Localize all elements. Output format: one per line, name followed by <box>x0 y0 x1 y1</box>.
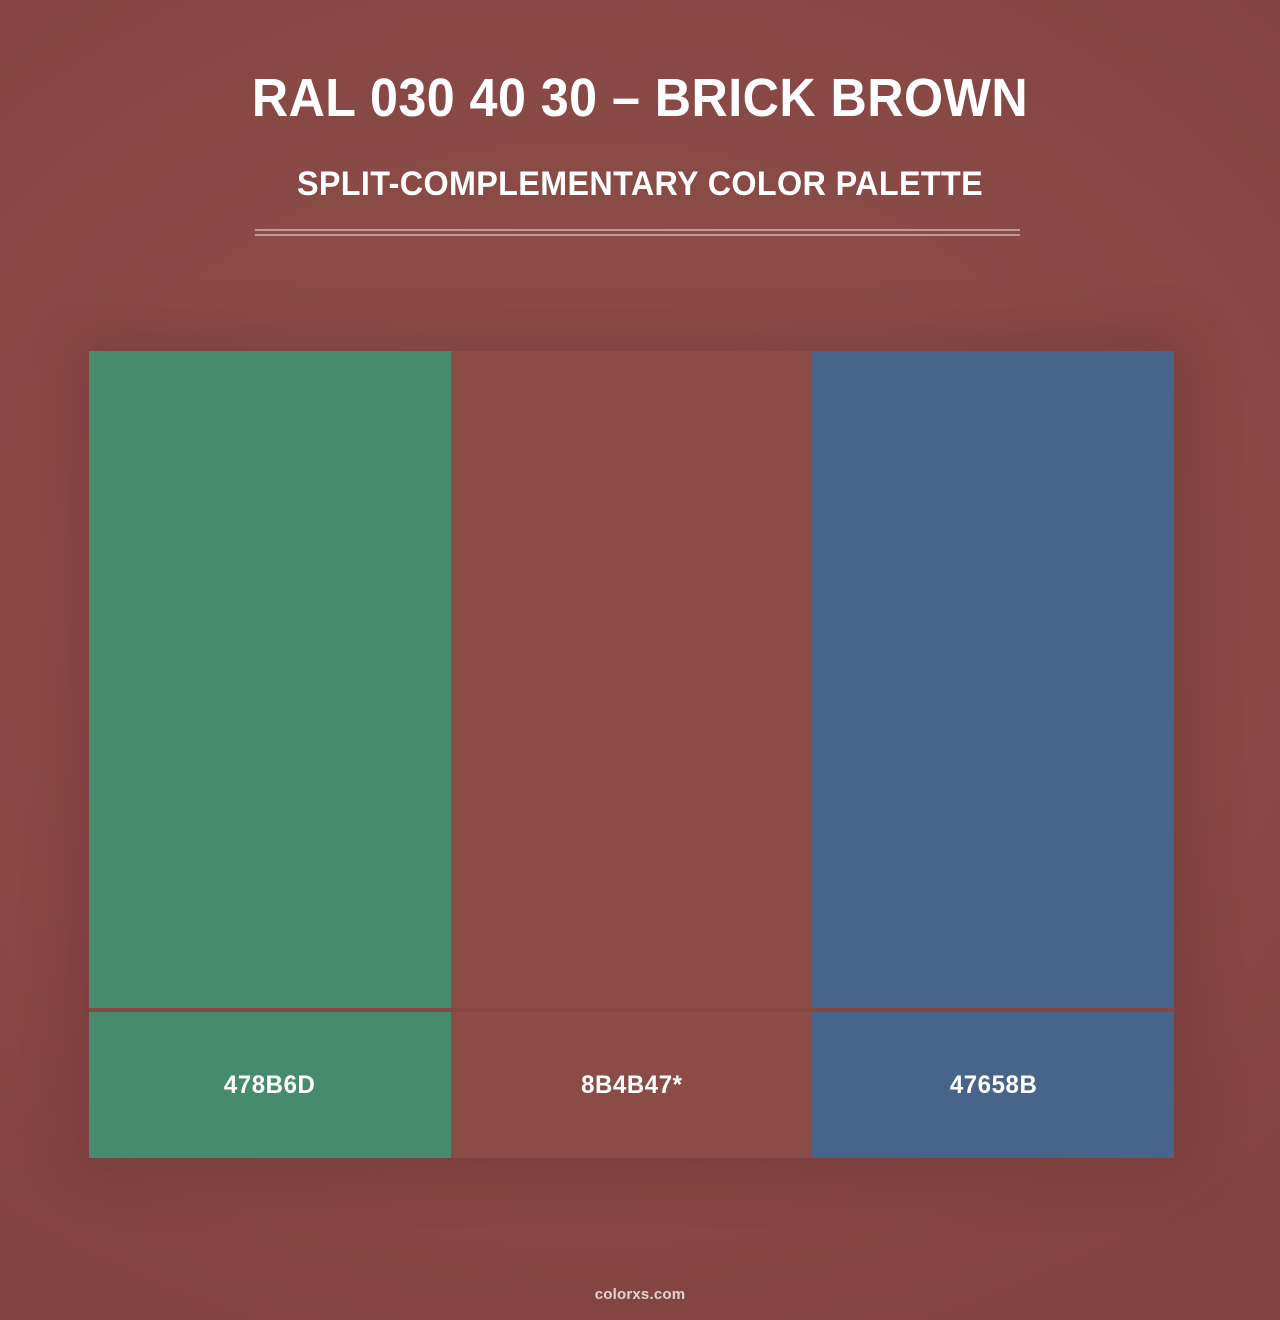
swatch-row <box>89 351 1174 1008</box>
label-row: 478B6D 8B4B47* 47658B <box>89 1012 1174 1158</box>
page-subtitle: SPLIT-COMPLEMENTARY COLOR PALETTE <box>32 164 1248 204</box>
color-palette-page: RAL 030 40 30 – BRICK BROWN SPLIT-COMPLE… <box>0 0 1280 1320</box>
swatch-brick-brown[interactable] <box>451 351 813 1008</box>
divider-rule-bottom <box>255 234 1020 236</box>
swatch-hex-label-green: 478B6D <box>224 1071 316 1100</box>
swatch-blue[interactable] <box>812 351 1174 1008</box>
footer-site-name: colorxs.com <box>0 1286 1280 1303</box>
label-cell-green[interactable]: 478B6D <box>89 1012 451 1158</box>
swatch-hex-label-brick-brown: 8B4B47* <box>581 1071 682 1100</box>
swatch-green[interactable] <box>89 351 451 1008</box>
label-cell-brick-brown[interactable]: 8B4B47* <box>451 1012 813 1158</box>
divider-rule-top <box>255 229 1020 231</box>
palette-block: 478B6D 8B4B47* 47658B <box>89 351 1174 1158</box>
header-divider <box>255 229 1020 236</box>
page-title: RAL 030 40 30 – BRICK BROWN <box>45 68 1235 128</box>
swatch-hex-label-blue: 47658B <box>949 1071 1037 1100</box>
label-cell-blue[interactable]: 47658B <box>812 1012 1174 1158</box>
